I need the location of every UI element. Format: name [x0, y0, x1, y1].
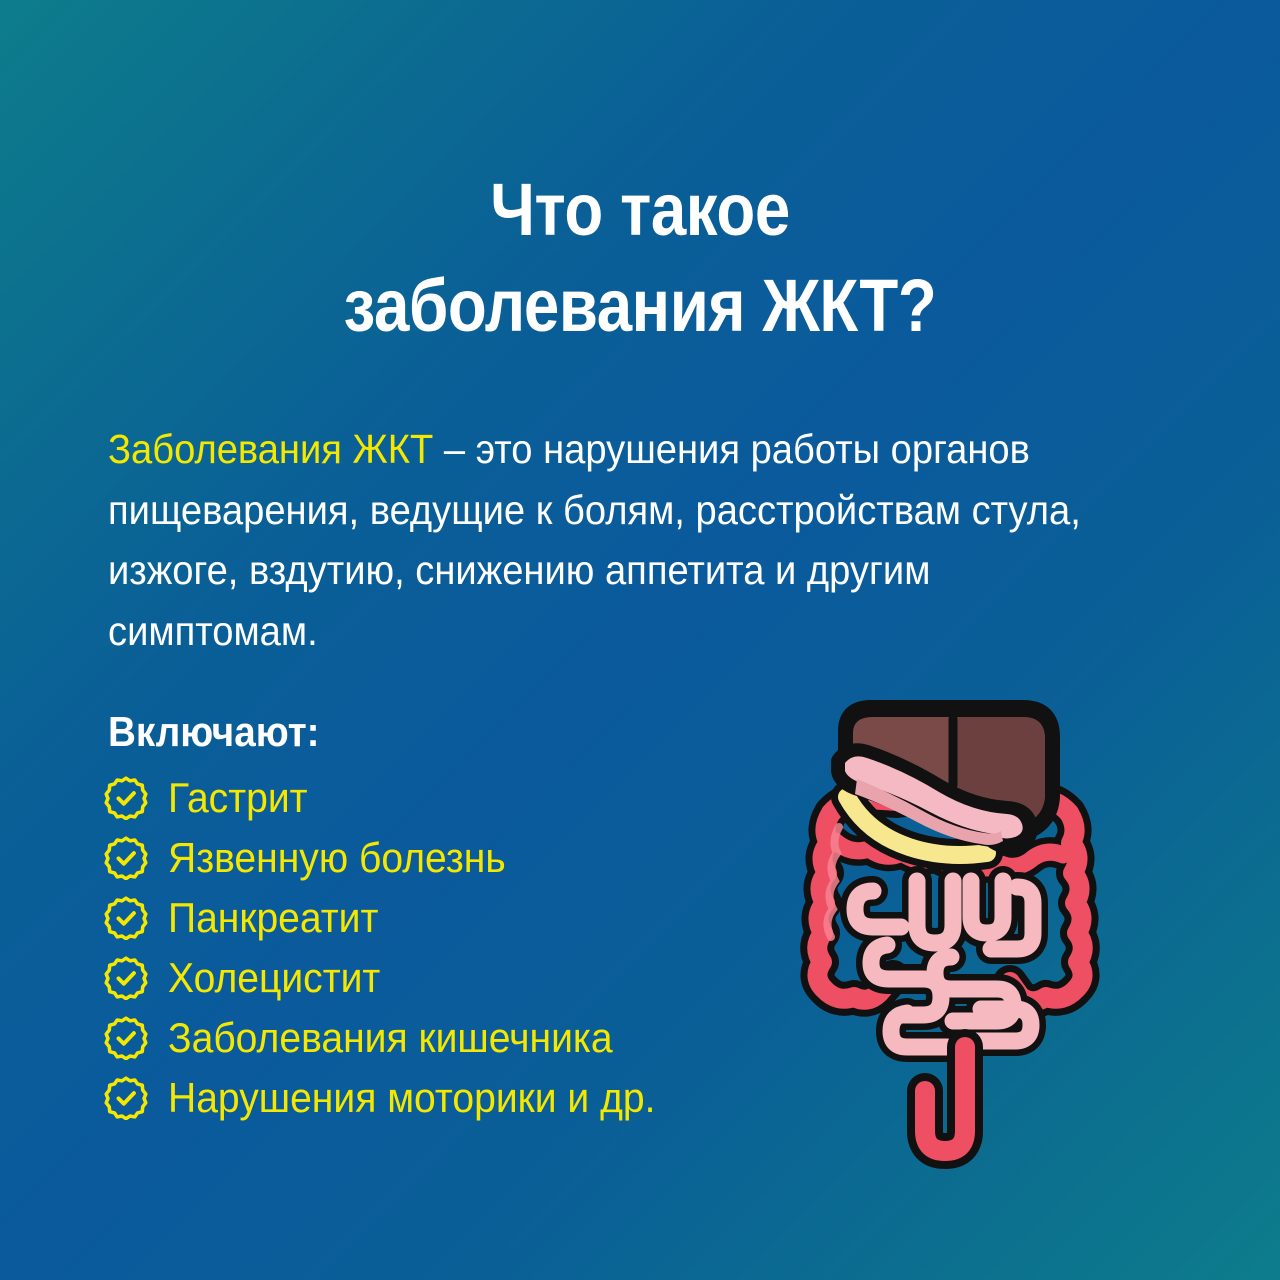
list-item-label: Язвенную болезнь — [168, 837, 506, 879]
lead-highlight: Заболевания ЖКТ — [108, 426, 433, 472]
small-intestine — [855, 881, 1033, 1047]
list-item-label: Гастрит — [168, 777, 308, 819]
list-item: Нарушения моторики и др. — [104, 1068, 692, 1128]
includes-list: Гастрит Язвенную болезнь Панкреатит Холе… — [104, 768, 692, 1128]
list-item: Гастрит — [104, 768, 692, 828]
includes-heading: Включают: — [108, 708, 320, 756]
rectum — [925, 1047, 965, 1151]
list-item: Холецистит — [104, 948, 692, 1008]
check-badge-icon — [104, 776, 148, 820]
list-item: Панкреатит — [104, 888, 692, 948]
infographic-poster: Что такое заболевания ЖКТ? Заболевания Ж… — [0, 0, 1280, 1280]
check-badge-icon — [104, 836, 148, 880]
list-item-label: Нарушения моторики и др. — [168, 1077, 655, 1119]
check-badge-icon — [104, 956, 148, 1000]
digestive-system-illustration — [795, 695, 1105, 1170]
list-item-label: Холецистит — [168, 957, 380, 999]
page-title: Что такое заболевания ЖКТ? — [90, 162, 1191, 354]
check-badge-icon — [104, 1016, 148, 1060]
list-item-label: Заболевания кишечника — [168, 1017, 613, 1059]
check-badge-icon — [104, 896, 148, 940]
list-item: Заболевания кишечника — [104, 1008, 692, 1068]
list-item: Язвенную болезнь — [104, 828, 692, 888]
list-item-label: Панкреатит — [168, 897, 378, 939]
lead-paragraph: Заболевания ЖКТ – это нарушения работы о… — [108, 419, 1122, 662]
check-badge-icon — [104, 1076, 148, 1120]
